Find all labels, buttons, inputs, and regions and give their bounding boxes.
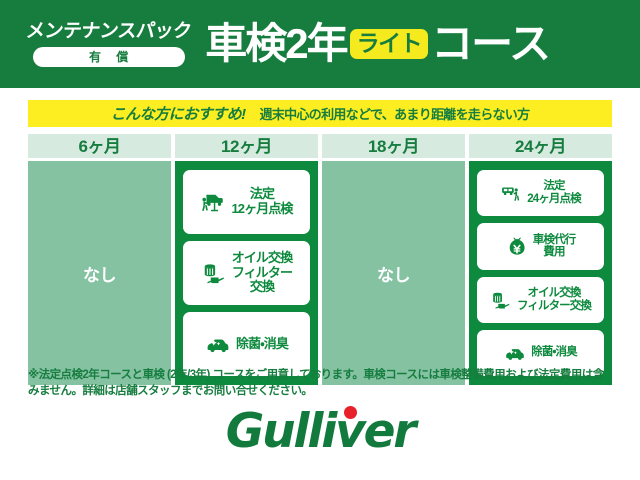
- service-item-label: 除菌・消臭: [531, 346, 576, 359]
- schedule-column: 24ヶ月 法定 24ヶ月点検 車検代行 費用: [469, 134, 612, 385]
- service-item-card: 法定 12ヶ月点検: [183, 170, 310, 234]
- car-inspection-agent-icon: [500, 182, 522, 204]
- course-title-part1: 車検2年: [205, 23, 346, 65]
- header-banner: メンテナンスパック 有 償 車検2年 ライト コース: [0, 0, 640, 88]
- service-item-card: 法定 24ヶ月点検: [477, 170, 604, 216]
- money-bag-yen-icon: [506, 235, 528, 257]
- no-service-label: なし: [377, 261, 410, 286]
- schedule-column: 6ヶ月なし: [28, 134, 171, 385]
- footnote-text: ※法定点検2年コースと車検 (2年/3年) コースをご用意しております。車検コー…: [28, 367, 614, 400]
- brand-logo-dot-icon: [344, 406, 357, 419]
- schedule-column-header: 12ヶ月: [175, 134, 318, 158]
- schedule-column-body: 法定 24ヶ月点検 車検代行 費用 オイル交換 フィルター交換 除菌・消臭: [469, 161, 612, 385]
- schedule-column-header-label: 18ヶ月: [368, 138, 419, 155]
- brand-logo-label: Gulliver: [226, 404, 414, 459]
- schedule-column-header-label: 12ヶ月: [221, 138, 272, 155]
- light-course-badge: ライト: [350, 29, 429, 59]
- service-item-label: オイル交換 フィルター 交換: [232, 251, 293, 295]
- maintenance-pack-block: メンテナンスパック 有 償: [26, 22, 191, 67]
- recommendation-description: 週末中心の利用などで、あまり距離を走らない方: [260, 104, 530, 123]
- service-item-label: 除菌・消臭: [236, 337, 288, 352]
- service-item-label: 法定 24ヶ月点検: [527, 180, 580, 206]
- service-item-label: 法定 12ヶ月点検: [231, 187, 292, 216]
- oil-filter-change-icon: [201, 260, 227, 286]
- oil-filter-change-icon: [490, 289, 512, 311]
- brand-logo: Gulliver: [0, 408, 640, 455]
- recommendation-banner: こんな方におすすめ! 週末中心の利用などで、あまり距離を走らない方: [28, 100, 612, 127]
- service-item-label: 車検代行 費用: [533, 234, 575, 260]
- service-item-label: オイル交換 フィルター交換: [517, 287, 591, 313]
- no-service-label: なし: [83, 261, 116, 286]
- schedule-column-header: 18ヶ月: [322, 134, 465, 158]
- light-course-badge-label: ライト: [357, 32, 422, 55]
- maintenance-pack-title: メンテナンスパック: [25, 22, 192, 41]
- paid-badge-label: 有 償: [83, 51, 134, 63]
- schedule-column-body: なし: [28, 161, 171, 385]
- paid-badge: 有 償: [33, 47, 185, 67]
- service-item-card: オイル交換 フィルター 交換: [183, 241, 310, 305]
- course-title: 車検2年 ライト コース: [205, 23, 640, 65]
- maintenance-schedule-table: 6ヶ月なし12ヶ月 法定 12ヶ月点検 オイル交換 フィルター 交換: [28, 134, 612, 385]
- schedule-column-body: 法定 12ヶ月点検 オイル交換 フィルター 交換 除菌・消臭: [175, 161, 318, 385]
- schedule-column-header: 6ヶ月: [28, 134, 171, 158]
- car-sanitize-icon: [504, 342, 526, 364]
- recommendation-label: こんな方におすすめ!: [111, 103, 246, 124]
- service-item-card: オイル交換 フィルター交換: [477, 277, 604, 323]
- service-item-card: 車検代行 費用: [477, 223, 604, 269]
- schedule-column-body: なし: [322, 161, 465, 385]
- brand-logo-text: Gulliver: [226, 408, 414, 455]
- schedule-column: 18ヶ月なし: [322, 134, 465, 385]
- car-sanitize-icon: [205, 331, 231, 357]
- schedule-column-header-label: 24ヶ月: [515, 138, 566, 155]
- schedule-column-header-label: 6ヶ月: [79, 138, 121, 155]
- car-on-lift-inspection-icon: [200, 189, 226, 215]
- schedule-column: 12ヶ月 法定 12ヶ月点検 オイル交換 フィルター 交換: [175, 134, 318, 385]
- course-title-part2: コース: [431, 23, 549, 65]
- schedule-column-header: 24ヶ月: [469, 134, 612, 158]
